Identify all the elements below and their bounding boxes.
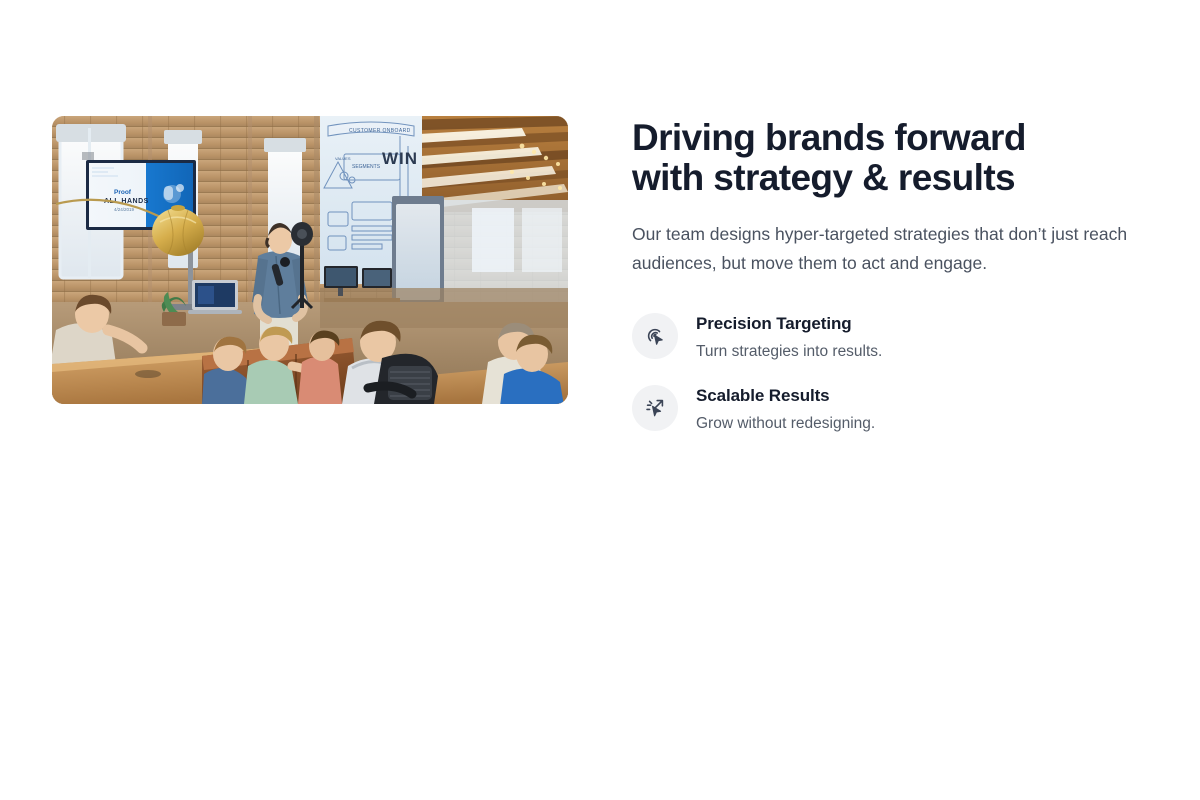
svg-text:CUSTOMER ONBOARD: CUSTOMER ONBOARD bbox=[349, 128, 411, 134]
feature-description: Grow without redesigning. bbox=[696, 413, 875, 434]
office-all-hands-photo: CUSTOMER ONBOARD SEGMENTS VALUES WIN bbox=[52, 116, 568, 404]
wall-poster-text: WIN bbox=[382, 149, 418, 168]
headline-line-1: Driving brands forward bbox=[632, 117, 1026, 158]
precision-click-target-icon bbox=[632, 313, 678, 359]
headline-line-2: with strategy & results bbox=[632, 158, 1148, 198]
feature-item-scalable-results: Scalable Results Grow without redesignin… bbox=[632, 384, 1148, 434]
page-root: CUSTOMER ONBOARD SEGMENTS VALUES WIN bbox=[0, 0, 1200, 800]
feature-description: Turn strategies into results. bbox=[696, 341, 882, 362]
feature-text: Precision Targeting Turn strategies into… bbox=[696, 312, 882, 362]
growth-arrow-cursor-icon bbox=[632, 385, 678, 431]
screen-title: Proof bbox=[114, 189, 132, 196]
feature-title: Scalable Results bbox=[696, 385, 875, 407]
feature-section: CUSTOMER ONBOARD SEGMENTS VALUES WIN bbox=[52, 116, 1148, 434]
screen-date: 4/24/2019 bbox=[114, 207, 135, 212]
section-image: CUSTOMER ONBOARD SEGMENTS VALUES WIN bbox=[52, 116, 568, 404]
feature-text: Scalable Results Grow without redesignin… bbox=[696, 384, 875, 434]
feature-item-precision-targeting: Precision Targeting Turn strategies into… bbox=[632, 312, 1148, 362]
feature-list: Precision Targeting Turn strategies into… bbox=[632, 312, 1148, 434]
section-copy: Driving brands forward with strategy & r… bbox=[632, 116, 1148, 434]
feature-title: Precision Targeting bbox=[696, 313, 882, 335]
page-title: Driving brands forward with strategy & r… bbox=[632, 118, 1148, 198]
svg-text:VALUES: VALUES bbox=[335, 156, 351, 161]
section-description: Our team designs hyper-targeted strategi… bbox=[632, 220, 1148, 278]
